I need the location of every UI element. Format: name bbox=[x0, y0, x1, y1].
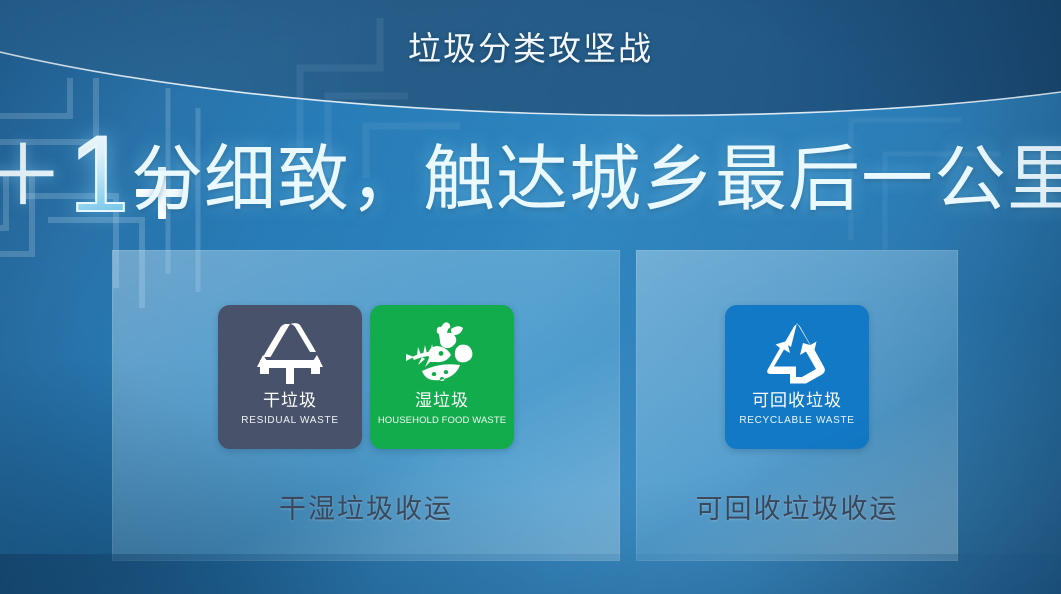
tile-row-right: 可回收垃圾 RECYCLABLE WASTE bbox=[725, 305, 869, 449]
headline-number: 1 bbox=[69, 120, 129, 228]
page-title: 垃圾分类攻坚战 bbox=[0, 22, 1061, 70]
food-waste-icon bbox=[403, 320, 481, 388]
tile-household-food-waste[interactable]: 湿垃圾 HOUSEHOLD FOOD WASTE bbox=[370, 305, 514, 449]
panel-caption-right: 可回收垃圾收运 bbox=[696, 487, 899, 526]
panel-dry-wet-collection[interactable]: 干垃圾 RESIDUAL WASTE bbox=[112, 250, 620, 561]
headline-plus-symbol: ＋ bbox=[0, 134, 65, 218]
panel-recyclable-collection[interactable]: 可回收垃圾 RECYCLABLE WASTE 可回收垃圾收运 bbox=[636, 250, 958, 561]
headline-text: 分细致，触达城乡最后一公里 bbox=[131, 144, 1061, 216]
tile-label-cn: 可回收垃圾 bbox=[752, 392, 842, 411]
tile-label-en: RECYCLABLE WASTE bbox=[739, 415, 854, 426]
tile-recyclable-waste[interactable]: 可回收垃圾 RECYCLABLE WASTE bbox=[725, 305, 869, 449]
tile-label-cn: 湿垃圾 bbox=[415, 392, 469, 411]
tile-label-en: RESIDUAL WASTE bbox=[241, 415, 338, 426]
recycle-icon bbox=[758, 320, 836, 388]
slide-canvas: 垃圾分类攻坚战 ＋ 1 分细致，触达城乡最后一公里 bbox=[0, 0, 1061, 594]
tile-label-cn: 干垃圾 bbox=[263, 392, 317, 411]
tile-residual-waste[interactable]: 干垃圾 RESIDUAL WASTE bbox=[218, 305, 362, 449]
headline: ＋ 1 分细致，触达城乡最后一公里 bbox=[0, 126, 1061, 234]
panel-caption-left: 干湿垃圾收运 bbox=[279, 487, 453, 526]
tile-label-en: HOUSEHOLD FOOD WASTE bbox=[378, 415, 506, 426]
tile-row-left: 干垃圾 RESIDUAL WASTE bbox=[218, 305, 514, 449]
residual-waste-icon bbox=[251, 320, 329, 388]
